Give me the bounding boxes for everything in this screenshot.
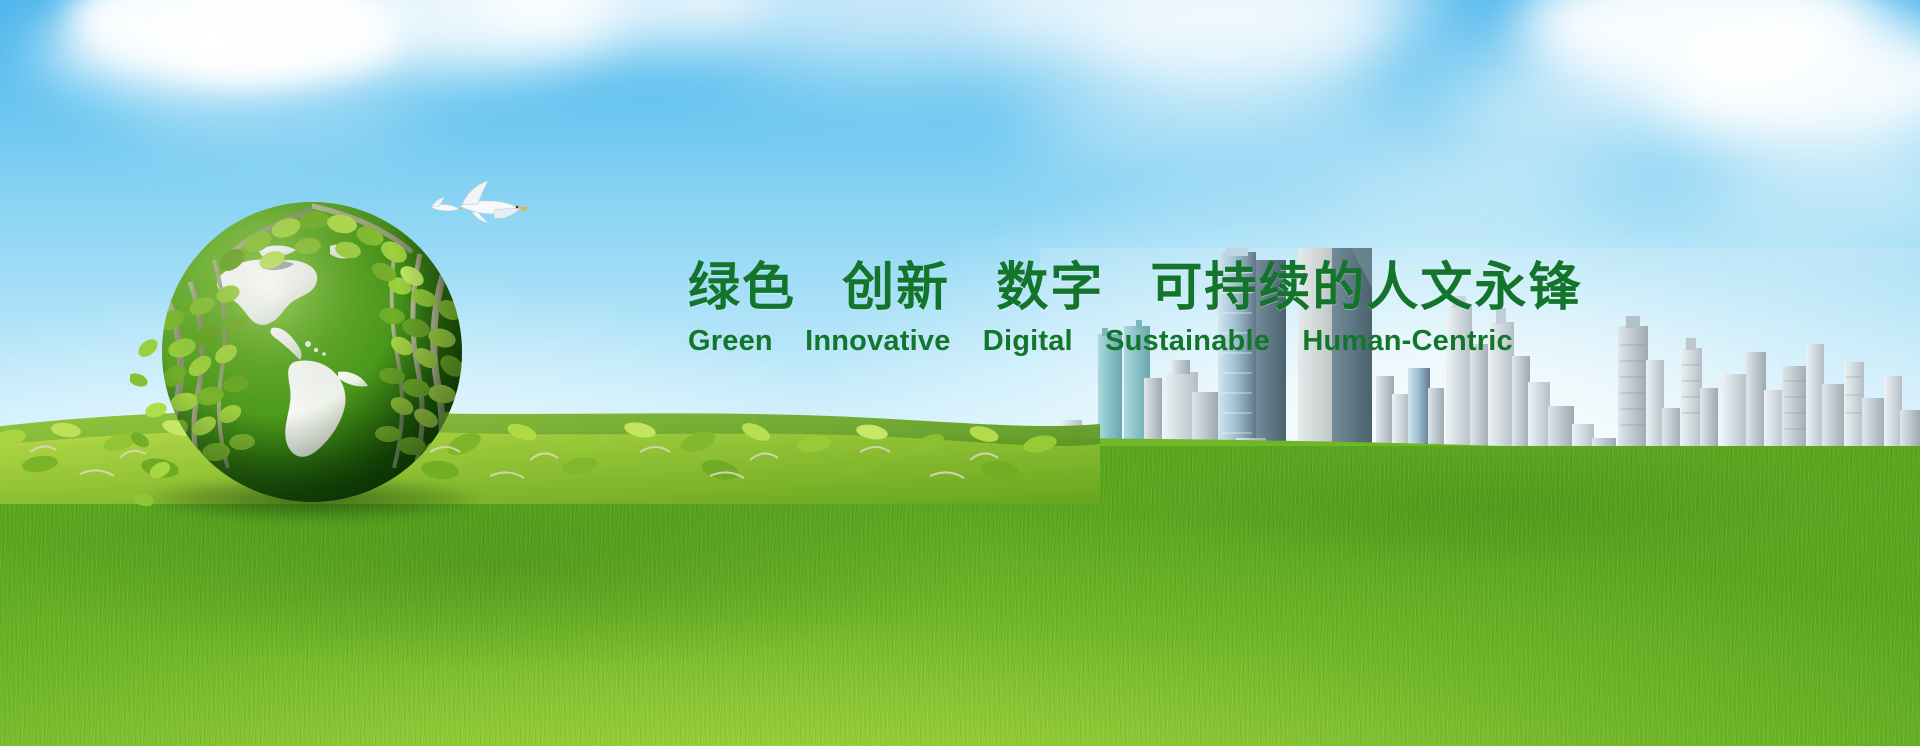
headline-segment-3: 数字 — [996, 258, 1104, 318]
subline-segment-1: Green — [688, 325, 773, 357]
banner-text-block: 绿色 创新 数字 可持续的人文永锋 Green Innovative Digit… — [688, 258, 1608, 358]
cloud-icon — [120, 54, 420, 124]
headline-segment-2: 创新 — [842, 258, 950, 318]
page-title: 绿色 创新 数字 可持续的人文永锋 — [688, 258, 1608, 319]
headline-segment-4: 可持续的人文永锋 — [1150, 258, 1582, 318]
green-leaf-globe-icon — [140, 164, 480, 514]
subline-segment-4: Sustainable — [1105, 325, 1270, 357]
subline-segment-2: Innovative — [805, 325, 950, 357]
falling-leaves-icon — [130, 314, 250, 534]
subline-segment-5: Human-Centric — [1302, 325, 1512, 357]
cloud-icon — [1020, 60, 1400, 170]
hero-banner: 绿色 创新 数字 可持续的人文永锋 Green Innovative Digit… — [0, 0, 1920, 746]
subline-segment-3: Digital — [983, 325, 1073, 357]
cloud-icon — [1330, 130, 1590, 220]
headline-segment-1: 绿色 — [688, 258, 796, 318]
page-subtitle: Green Innovative Digital Sustainable Hum… — [688, 325, 1608, 358]
